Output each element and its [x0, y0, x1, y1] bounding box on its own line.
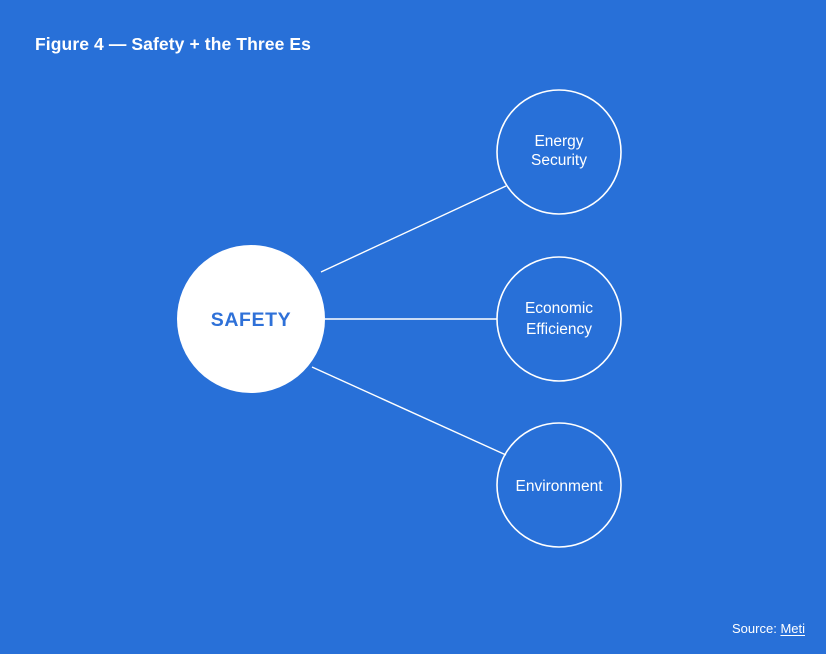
connector-safety-to-energy-security	[321, 186, 506, 272]
figure-container: Figure 4 — Safety + the Three Es Energy …	[0, 0, 826, 654]
connector-safety-to-environment	[312, 367, 506, 455]
source-link[interactable]: Meti	[780, 621, 805, 636]
node-energy-security-label-line2: Security	[531, 152, 587, 169]
source-note: Source: Meti	[732, 620, 805, 637]
node-environment-label-line1: Environment	[515, 478, 603, 495]
node-energy-security[interactable]: Energy Security	[497, 90, 621, 214]
node-safety-label: SAFETY	[211, 309, 292, 331]
node-energy-security-label-line1: Energy	[534, 133, 583, 150]
node-economic-efficiency-label-line1: Economic	[525, 300, 593, 317]
connector-group	[312, 186, 506, 455]
node-economic-efficiency-circle[interactable]	[497, 257, 621, 381]
node-safety[interactable]: SAFETY	[177, 245, 325, 393]
node-environment[interactable]: Environment	[497, 423, 621, 547]
network-diagram: Energy Security Economic Efficiency Envi…	[0, 0, 826, 654]
node-economic-efficiency-label-line2: Efficiency	[526, 321, 592, 338]
node-economic-efficiency[interactable]: Economic Efficiency	[497, 257, 621, 381]
source-prefix-label: Source:	[732, 621, 780, 636]
